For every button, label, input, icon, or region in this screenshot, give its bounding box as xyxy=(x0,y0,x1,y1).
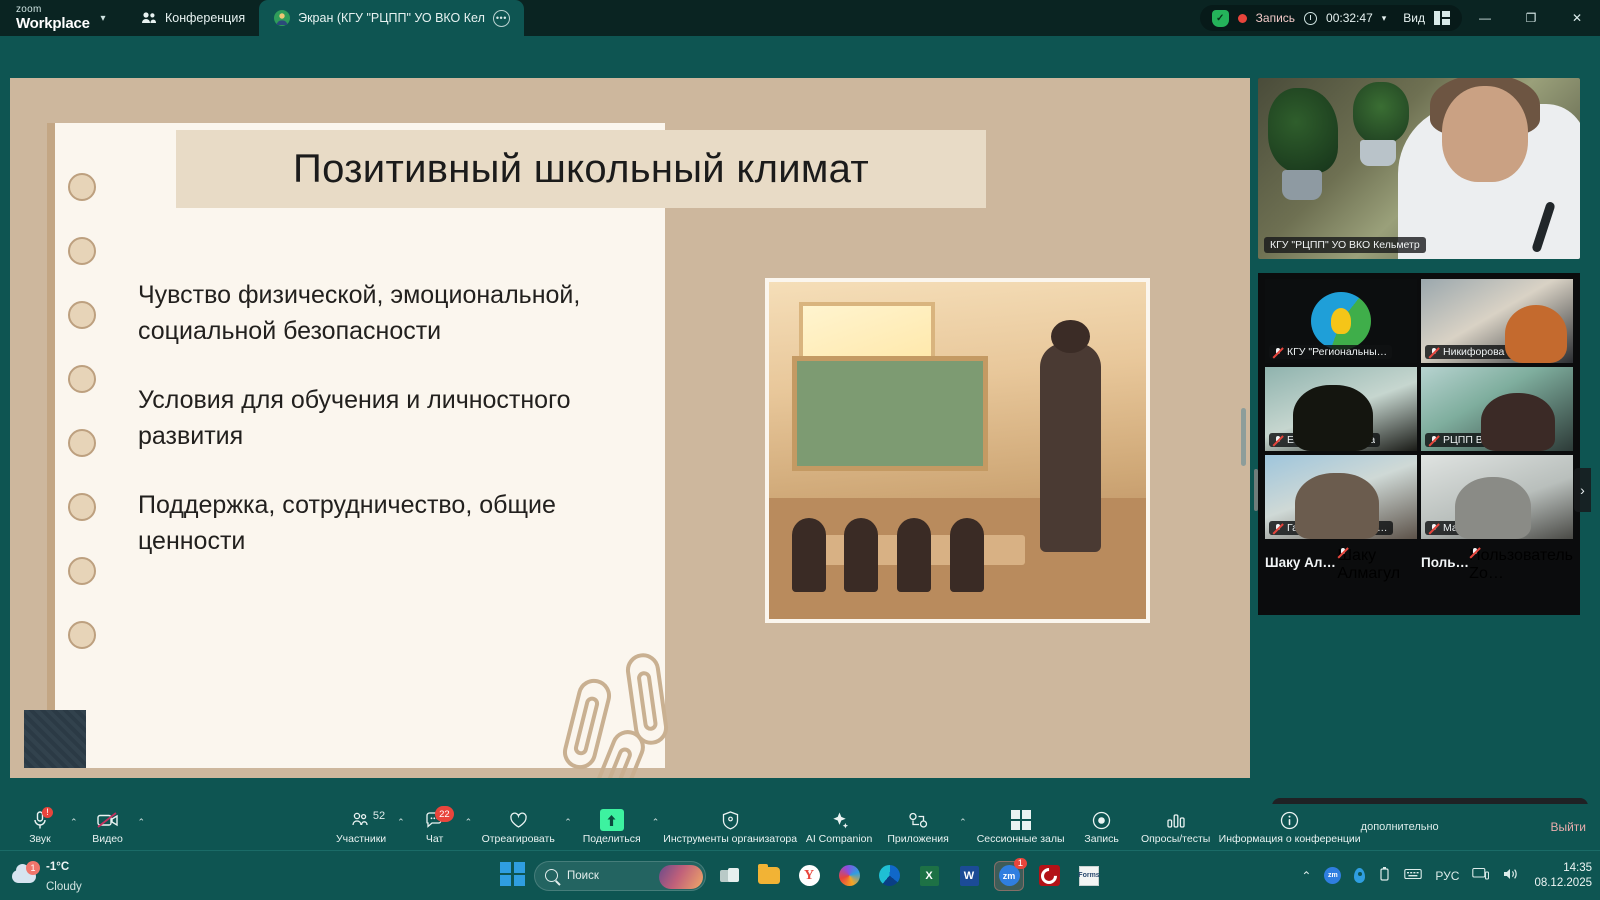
participant-name: РЦПП ВКО Лилия … xyxy=(1443,434,1544,446)
participants-icon: 52 xyxy=(351,809,371,831)
taskbar-weather-widget[interactable]: 1 -1°C Cloudy xyxy=(0,856,170,894)
zoom-brand-logo: zoom Workplace xyxy=(0,5,90,31)
volume-icon[interactable] xyxy=(1502,867,1519,884)
audio-button[interactable]: ! Звук xyxy=(14,804,66,850)
reactions-button[interactable]: Отреагировать xyxy=(476,804,560,850)
search-placeholder: Поиск xyxy=(567,870,599,882)
ai-companion-button[interactable]: AI Companion xyxy=(797,804,881,850)
participant-display-name: Шаку Алмагул xyxy=(1265,555,1337,570)
participant-tile[interactable]: РЦПП ВКО Лилия … xyxy=(1421,367,1573,451)
slide-bullet: Условия для обучения и личностного разви… xyxy=(138,383,618,454)
leave-meeting-button[interactable]: Выйти xyxy=(1550,820,1586,834)
shield-check-icon[interactable]: ✓ xyxy=(1212,10,1229,27)
active-speaker-name: КГУ "РЦПП" УО ВКО Кельметр xyxy=(1264,237,1426,253)
share-scroll-indicator[interactable] xyxy=(1241,408,1246,466)
yandex-letter: Y xyxy=(799,865,820,886)
search-input[interactable]: Поиск xyxy=(534,861,706,891)
search-icon xyxy=(545,869,558,882)
chevron-up-icon[interactable]: ⌃ xyxy=(1301,869,1311,883)
tab-conference[interactable]: Конференция xyxy=(126,0,259,36)
excel-icon[interactable]: X xyxy=(912,859,946,893)
participant-tile[interactable]: КГУ "Региональны… xyxy=(1265,279,1417,363)
apps-options-chevron-icon[interactable]: ⌃ xyxy=(955,817,971,838)
video-label: Видео xyxy=(92,833,123,845)
notebook-rings xyxy=(68,173,108,685)
more-options-label[interactable]: дополнительно xyxy=(1361,821,1439,833)
record-button[interactable]: Запись xyxy=(1071,804,1133,850)
brand-large-text: Workplace xyxy=(16,16,90,31)
close-button[interactable]: ✕ xyxy=(1554,0,1600,36)
slide-corner-block xyxy=(24,710,86,768)
apps-button[interactable]: Приложения xyxy=(881,804,955,850)
slide-title-band: Позитивный школьный климат xyxy=(176,130,986,208)
microsoft-edge-icon[interactable] xyxy=(872,859,906,893)
restore-button[interactable]: ❐ xyxy=(1508,0,1554,36)
participant-name: Никифорова Тать… xyxy=(1443,346,1540,358)
polls-label: Опросы/тесты xyxy=(1141,833,1210,845)
chevron-down-icon[interactable]: ▾ xyxy=(90,0,116,36)
info-icon xyxy=(1280,809,1299,831)
copilot-icon[interactable] xyxy=(832,859,866,893)
participants-panel: КГУ "РЦПП" УО ВКО Кельметр КГУ "Регионал… xyxy=(1258,78,1590,778)
share-screen-button[interactable]: Поделиться xyxy=(576,804,648,850)
participant-tile[interactable]: Пользователь… Пользователь Zo… xyxy=(1421,547,1573,609)
system-tray: ⌃ zm РУС 14:35 08.12.2025 xyxy=(1301,861,1592,890)
screen-share-icon xyxy=(273,10,290,27)
excel-letter: X xyxy=(920,866,939,886)
ai-companion-label: AI Companion xyxy=(806,833,873,845)
taskbar-apps: Поиск Y X W zm 1 Forms xyxy=(500,859,1106,893)
audio-options-chevron-icon[interactable]: ⌃ xyxy=(66,817,82,838)
record-label: Запись xyxy=(1084,833,1118,845)
slide-bullet: Чувство физической, эмоциональной, социа… xyxy=(138,278,618,349)
participant-gallery: КГУ "Региональны… Никифорова Тать… Евген… xyxy=(1258,273,1580,615)
task-view-icon[interactable] xyxy=(712,859,746,893)
clock-date: 08.12.2025 xyxy=(1534,877,1592,889)
mute-icon xyxy=(1272,347,1283,358)
polls-icon xyxy=(1166,809,1186,831)
windows-taskbar: 1 -1°C Cloudy Поиск Y X W zm 1 xyxy=(0,850,1600,900)
reactions-label: Отреагировать xyxy=(482,833,555,845)
view-layout-icon[interactable] xyxy=(1434,11,1450,25)
slide-bullet: Поддержка, сотрудничество, общие ценност… xyxy=(138,488,618,559)
audio-alert-badge: ! xyxy=(42,807,53,818)
tab-more-options-icon[interactable]: ••• xyxy=(493,10,510,27)
audio-only-participants: Шаку Алмагул Шаку Алмагул Пользователь… … xyxy=(1258,539,1580,609)
mute-icon xyxy=(1428,435,1439,446)
location-pin-icon[interactable] xyxy=(1354,868,1365,883)
share-options-chevron-icon[interactable]: ⌃ xyxy=(648,817,664,838)
word-icon[interactable]: W xyxy=(952,859,986,893)
share-screen-label: Поделиться xyxy=(583,833,641,845)
zoom-taskbar-badge: 1 xyxy=(1014,858,1027,869)
participants-count: 52 xyxy=(373,810,385,822)
host-tools-label: Инструменты организатора xyxy=(663,833,797,845)
cloud-icon: 1 xyxy=(12,865,38,887)
zoom-meeting-window: zoom Workplace ▾ Конференция Экран (КГУ … xyxy=(0,0,1600,900)
display-icon[interactable] xyxy=(1472,867,1489,884)
keyboard-icon[interactable] xyxy=(1404,868,1422,883)
reactions-icon xyxy=(509,809,528,831)
gallery-scrollbar[interactable] xyxy=(1254,469,1258,511)
minimize-button[interactable]: — xyxy=(1462,0,1508,36)
participant-grid: КГУ "Региональны… Никифорова Тать… Евген… xyxy=(1258,279,1580,539)
participant-tile[interactable]: Галина Александр… xyxy=(1265,455,1417,539)
meeting-toolbar: ! Звук ⌃ Видео ⌃ 52 Участники ⌃ 22 xyxy=(0,804,1600,850)
timer-chevron-icon[interactable]: ▾ xyxy=(1382,13,1387,24)
word-letter: W xyxy=(960,866,979,886)
zoom-taskbar-icon[interactable]: zm 1 xyxy=(992,859,1026,893)
clock-icon xyxy=(1304,12,1317,25)
weather-alert-badge: 1 xyxy=(26,861,40,875)
yandex-browser-icon[interactable]: Y xyxy=(792,859,826,893)
participant-name: Шаку Алмагул xyxy=(1337,547,1400,582)
audio-label: Звук xyxy=(29,833,51,845)
meeting-stage: Позитивный школьный климат Чувство физич… xyxy=(0,36,1600,804)
participants-label: Участники xyxy=(336,833,386,845)
tab-screen-share[interactable]: Экран (КГУ "РЦПП" УО ВКО Кел ••• xyxy=(259,0,524,36)
participant-name: Евгения Краснова xyxy=(1287,434,1375,446)
meeting-info-button[interactable]: Информация о конференции xyxy=(1219,804,1361,850)
host-tools-icon xyxy=(722,809,739,831)
windows-start-icon[interactable] xyxy=(500,862,528,890)
participants-options-chevron-icon[interactable]: ⌃ xyxy=(393,817,409,838)
brand-small-text: zoom xyxy=(16,5,90,15)
host-tools-button[interactable]: Инструменты организатора xyxy=(663,804,797,850)
participants-button[interactable]: 52 Участники xyxy=(329,804,393,850)
polls-button[interactable]: Опросы/тесты xyxy=(1133,804,1219,850)
chat-label: Чат xyxy=(426,833,443,845)
participant-tile[interactable]: Шаку Алмагул Шаку Алмагул xyxy=(1265,547,1417,609)
microphone-muted-icon: ! xyxy=(32,809,48,831)
clock-time: 14:35 xyxy=(1563,862,1592,874)
weather-temperature: -1°C xyxy=(46,861,69,873)
camera-off-icon xyxy=(97,809,119,831)
participant-tile[interactable]: Марзия xyxy=(1421,455,1573,539)
recording-dot-icon xyxy=(1238,14,1247,23)
chat-button[interactable]: 22 Чат xyxy=(409,804,461,850)
breakout-rooms-icon xyxy=(1011,809,1031,831)
forms-icon[interactable]: Forms xyxy=(1072,859,1106,893)
slide-bullet-list: Чувство физической, эмоциональной, социа… xyxy=(138,278,618,593)
chat-options-chevron-icon[interactable]: ⌃ xyxy=(461,817,477,838)
title-bar: zoom Workplace ▾ Конференция Экран (КГУ … xyxy=(0,0,1600,36)
participant-name: Пользователь Zo… xyxy=(1469,547,1573,582)
chat-unread-badge: 22 xyxy=(435,806,454,822)
video-options-chevron-icon[interactable]: ⌃ xyxy=(134,817,150,838)
mute-icon xyxy=(1272,435,1283,446)
reactions-options-chevron-icon[interactable]: ⌃ xyxy=(560,817,576,838)
active-speaker-tile[interactable]: КГУ "РЦПП" УО ВКО Кельметр xyxy=(1258,78,1580,259)
gallery-next-arrow-icon[interactable]: › xyxy=(1574,468,1591,512)
weather-condition: Cloudy xyxy=(46,881,82,893)
zoom-tray-icon[interactable]: zm xyxy=(1324,867,1341,884)
view-label[interactable]: Вид xyxy=(1403,11,1425,25)
participant-name: Марзия xyxy=(1443,522,1480,534)
breakout-rooms-button[interactable]: Сессионные залы xyxy=(971,804,1071,850)
classroom-photo xyxy=(765,278,1150,623)
mute-icon xyxy=(1272,523,1283,534)
file-explorer-icon[interactable] xyxy=(752,859,786,893)
presentation-slide: Позитивный школьный климат Чувство физич… xyxy=(10,78,1250,778)
mute-icon xyxy=(1428,523,1439,534)
apps-icon xyxy=(908,809,929,831)
taskbar-clock[interactable]: 14:35 08.12.2025 xyxy=(1532,861,1592,890)
language-indicator[interactable]: РУС xyxy=(1435,869,1459,883)
breakout-rooms-label: Сессионные залы xyxy=(977,833,1065,845)
share-screen-icon xyxy=(600,809,624,831)
titlebar-right-controls: ✓ Запись 00:32:47 ▾ Вид — ❐ ✕ xyxy=(1200,0,1600,36)
recording-label: Запись xyxy=(1256,11,1295,25)
search-highlight-thumbnail xyxy=(659,865,703,889)
record-icon xyxy=(1092,809,1111,831)
tab-screen-share-label: Экран (КГУ "РЦПП" УО ВКО Кел xyxy=(298,11,485,25)
shared-screen-area[interactable]: Позитивный школьный климат Чувство физич… xyxy=(10,78,1250,778)
chat-icon: 22 xyxy=(425,809,445,831)
tab-conference-label: Конференция xyxy=(165,11,245,25)
video-button[interactable]: Видео xyxy=(82,804,134,850)
people-icon xyxy=(140,10,157,27)
window-tabs: Конференция Экран (КГУ "РЦПП" УО ВКО Кел… xyxy=(126,0,524,36)
participant-tile[interactable]: Евгения Краснова xyxy=(1265,367,1417,451)
participant-display-name: Пользователь… xyxy=(1421,555,1469,570)
participant-tile[interactable]: Никифорова Тать… xyxy=(1421,279,1573,363)
forms-label: Forms xyxy=(1079,866,1099,886)
meeting-timer: 00:32:47 xyxy=(1326,11,1373,25)
ai-sparkle-icon xyxy=(830,809,849,831)
participant-name: КГУ "Региональны… xyxy=(1287,346,1387,358)
opera-icon[interactable] xyxy=(1032,859,1066,893)
mute-icon xyxy=(1428,347,1439,358)
meeting-info-label: Информация о конференции xyxy=(1219,833,1361,845)
apps-label: Приложения xyxy=(887,833,948,845)
participant-name: Галина Александр… xyxy=(1287,522,1388,534)
usb-icon[interactable] xyxy=(1378,866,1391,885)
slide-title: Позитивный школьный климат xyxy=(293,147,869,192)
meeting-status-pill: ✓ Запись 00:32:47 ▾ Вид xyxy=(1200,5,1462,31)
